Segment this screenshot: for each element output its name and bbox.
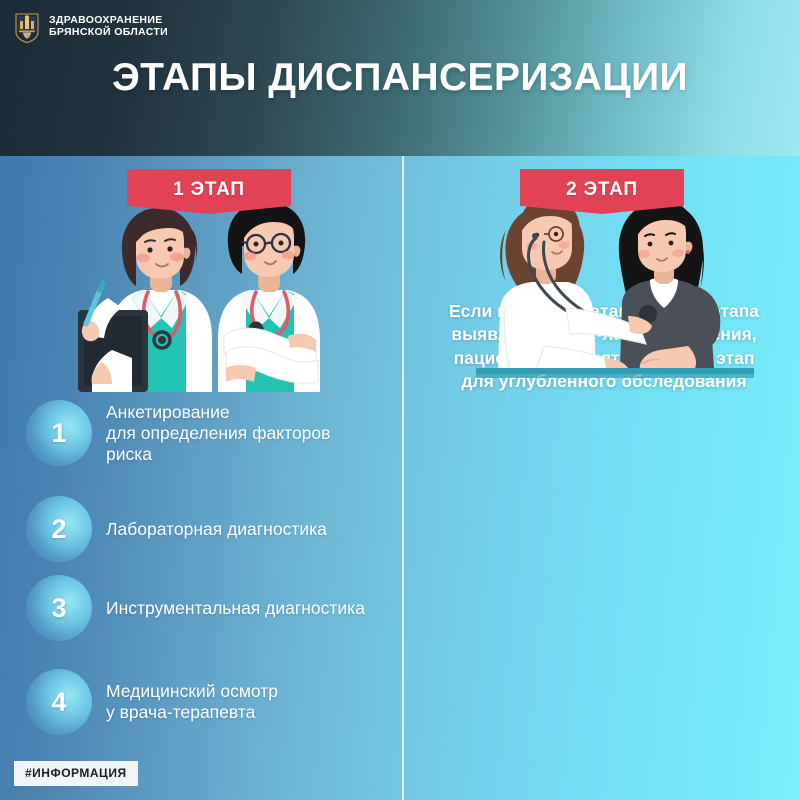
step-number: 1 bbox=[51, 420, 66, 447]
step-number: 3 bbox=[51, 595, 66, 622]
brand-line-2: БРЯНСКОЙ ОБЛАСТИ bbox=[49, 27, 168, 39]
infographic-poster: ЗДРАВООХРАНЕНИЕ БРЯНСКОЙ ОБЛАСТИ ЭТАПЫ Д… bbox=[0, 0, 800, 800]
list-item: 2 Лабораторная диагностика bbox=[26, 496, 396, 562]
poster-header: ЗДРАВООХРАНЕНИЕ БРЯНСКОЙ ОБЛАСТИ ЭТАПЫ Д… bbox=[0, 0, 800, 156]
brand-text: ЗДРАВООХРАНЕНИЕ БРЯНСКОЙ ОБЛАСТИ bbox=[49, 15, 168, 39]
step-label: Лабораторная диагностика bbox=[106, 519, 327, 540]
list-item: 3 Инструментальная диагностика bbox=[26, 575, 396, 641]
doctor-examining-patient-illustration bbox=[470, 186, 760, 392]
step-number-bubble: 1 bbox=[26, 400, 92, 466]
step-label: Анкетирование для определения факторов р… bbox=[106, 402, 330, 465]
list-item: 1 Анкетирование для определения факторов… bbox=[26, 400, 396, 466]
step-number: 4 bbox=[51, 689, 66, 716]
step-number-bubble: 4 bbox=[26, 669, 92, 735]
two-doctors-illustration bbox=[60, 186, 360, 392]
step-number-bubble: 2 bbox=[26, 496, 92, 562]
step-number-bubble: 3 bbox=[26, 575, 92, 641]
bryansk-coat-of-arms-icon bbox=[14, 11, 40, 43]
hashtag-badge: #ИНФОРМАЦИЯ bbox=[14, 761, 138, 786]
page-title: ЭТАПЫ ДИСПАНСЕРИЗАЦИИ bbox=[0, 56, 800, 100]
stage-2-badge: 2 ЭТАП bbox=[520, 169, 684, 214]
stage-1-badge: 1 ЭТАП bbox=[127, 169, 291, 214]
brand-block: ЗДРАВООХРАНЕНИЕ БРЯНСКОЙ ОБЛАСТИ bbox=[14, 11, 168, 43]
step-label: Медицинский осмотр у врача-терапевта bbox=[106, 681, 278, 723]
step-number: 2 bbox=[51, 516, 66, 543]
column-divider bbox=[402, 156, 404, 800]
step-label: Инструментальная диагностика bbox=[106, 598, 365, 619]
list-item: 4 Медицинский осмотр у врача-терапевта bbox=[26, 669, 396, 735]
